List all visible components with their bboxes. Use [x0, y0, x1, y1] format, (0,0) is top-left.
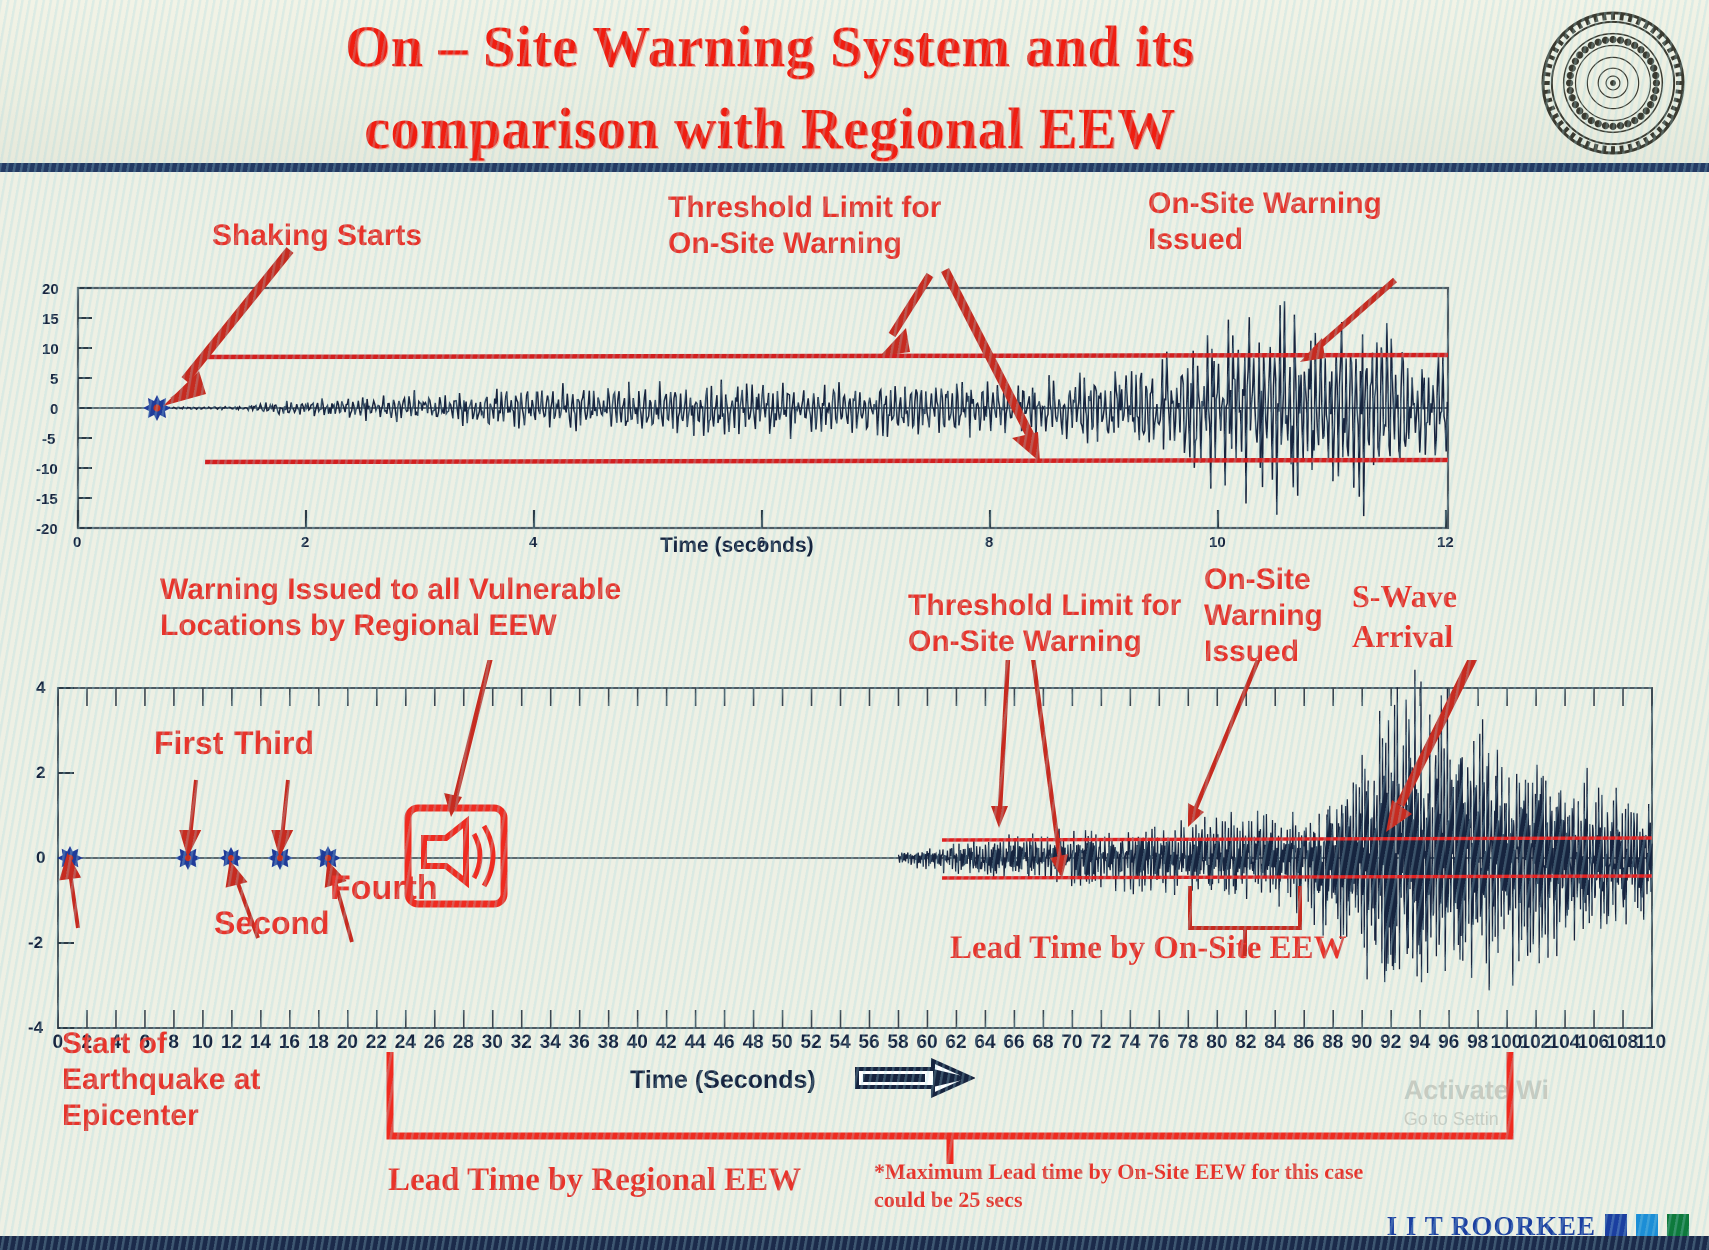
- shaking-start-marker: [143, 395, 171, 421]
- page-title-line1: On – Site Warning System and its: [150, 6, 1390, 88]
- bottom-chart-xtick: 110: [1636, 1032, 1667, 1054]
- top-chart-xtick: 8: [985, 534, 993, 551]
- page-title-line2: comparison with Regional EEW: [150, 88, 1390, 170]
- bottom-chart-xtick: 104: [1549, 1032, 1581, 1054]
- iit-roorkee-emblem-icon: [1539, 8, 1687, 158]
- threshold-limit-arrow-bottom: [991, 660, 1010, 828]
- bottom-chart-xtick: 108: [1607, 1032, 1639, 1054]
- annotation-start-of-earthquake: Start of Earthquake at Epicenter: [62, 1026, 260, 1134]
- top-chart-ytick: 15: [42, 311, 59, 328]
- top-chart-ytick: -5: [42, 431, 55, 448]
- top-chart-ytick: 10: [42, 341, 59, 358]
- annotation-lead-time-onsite: Lead Time by On-Site EEW: [950, 928, 1347, 969]
- bottom-chart-xtick: 106: [1578, 1032, 1610, 1054]
- threshold-limit-arrow-long: [945, 270, 1040, 462]
- regional-warning-arrow: [444, 660, 505, 817]
- slide-header: On – Site Warning System and its compari…: [0, 0, 1709, 172]
- bottom-chart-ytick: 4: [36, 678, 45, 698]
- shaking-starts-arrow: [163, 250, 290, 406]
- top-chart-ytick: 5: [50, 371, 58, 388]
- top-chart-xlabel: Time (seconds): [660, 534, 814, 558]
- annotation-shaking-starts: Shaking Starts: [212, 218, 422, 254]
- annotation-fourth: Fourth: [330, 868, 438, 909]
- top-chart-xtick: 10: [1209, 534, 1226, 551]
- bottom-chart-xtick: 16: [279, 1032, 300, 1054]
- bottom-chart-ytick: 0: [36, 848, 45, 868]
- onsite-warning-issued-arrow-bottom: [1188, 660, 1275, 827]
- bottom-bar: [0, 1236, 1709, 1250]
- top-chart-xtick: 2: [301, 534, 309, 551]
- top-chart-ytick: 20: [42, 281, 59, 298]
- top-chart-ytick: -20: [36, 521, 58, 538]
- annotation-threshold-limit-top: Threshold Limit for On-Site Warning: [668, 190, 941, 262]
- slide-root: On – Site Warning System and its compari…: [0, 0, 1709, 1250]
- annotation-third: Third: [234, 724, 314, 762]
- top-chart-xtick: 12: [1437, 534, 1454, 551]
- annotation-first: First: [154, 724, 223, 762]
- annotation-second: Second: [214, 904, 330, 942]
- top-chart-xtick: 4: [529, 534, 537, 551]
- annotation-warning-issued-regional: Warning Issued to all Vulnerable Locatio…: [160, 572, 621, 644]
- bottom-chart-ytick: -2: [28, 933, 43, 953]
- annotation-onsite-warning-issued-bottom: On-Site Warning Issued: [1204, 562, 1323, 670]
- bottom-chart-xtick: 18: [308, 1032, 329, 1054]
- annotation-onsite-warning-issued-top: On-Site Warning Issued: [1148, 186, 1382, 258]
- page-title: On – Site Warning System and its compari…: [150, 6, 1390, 171]
- top-chart-ytick: -10: [36, 461, 58, 478]
- top-chart-ytick: 0: [50, 401, 58, 418]
- annotation-s-wave-arrival: S-Wave Arrival: [1352, 576, 1457, 656]
- annotation-threshold-limit-bottom: Threshold Limit for On-Site Warning: [908, 588, 1181, 660]
- bottom-chart-ytick: 2: [36, 763, 45, 783]
- top-chart-xtick: 0: [73, 534, 81, 551]
- lead-time-regional-bracket: [330, 1040, 1530, 1170]
- top-chart-ytick: -15: [36, 491, 58, 508]
